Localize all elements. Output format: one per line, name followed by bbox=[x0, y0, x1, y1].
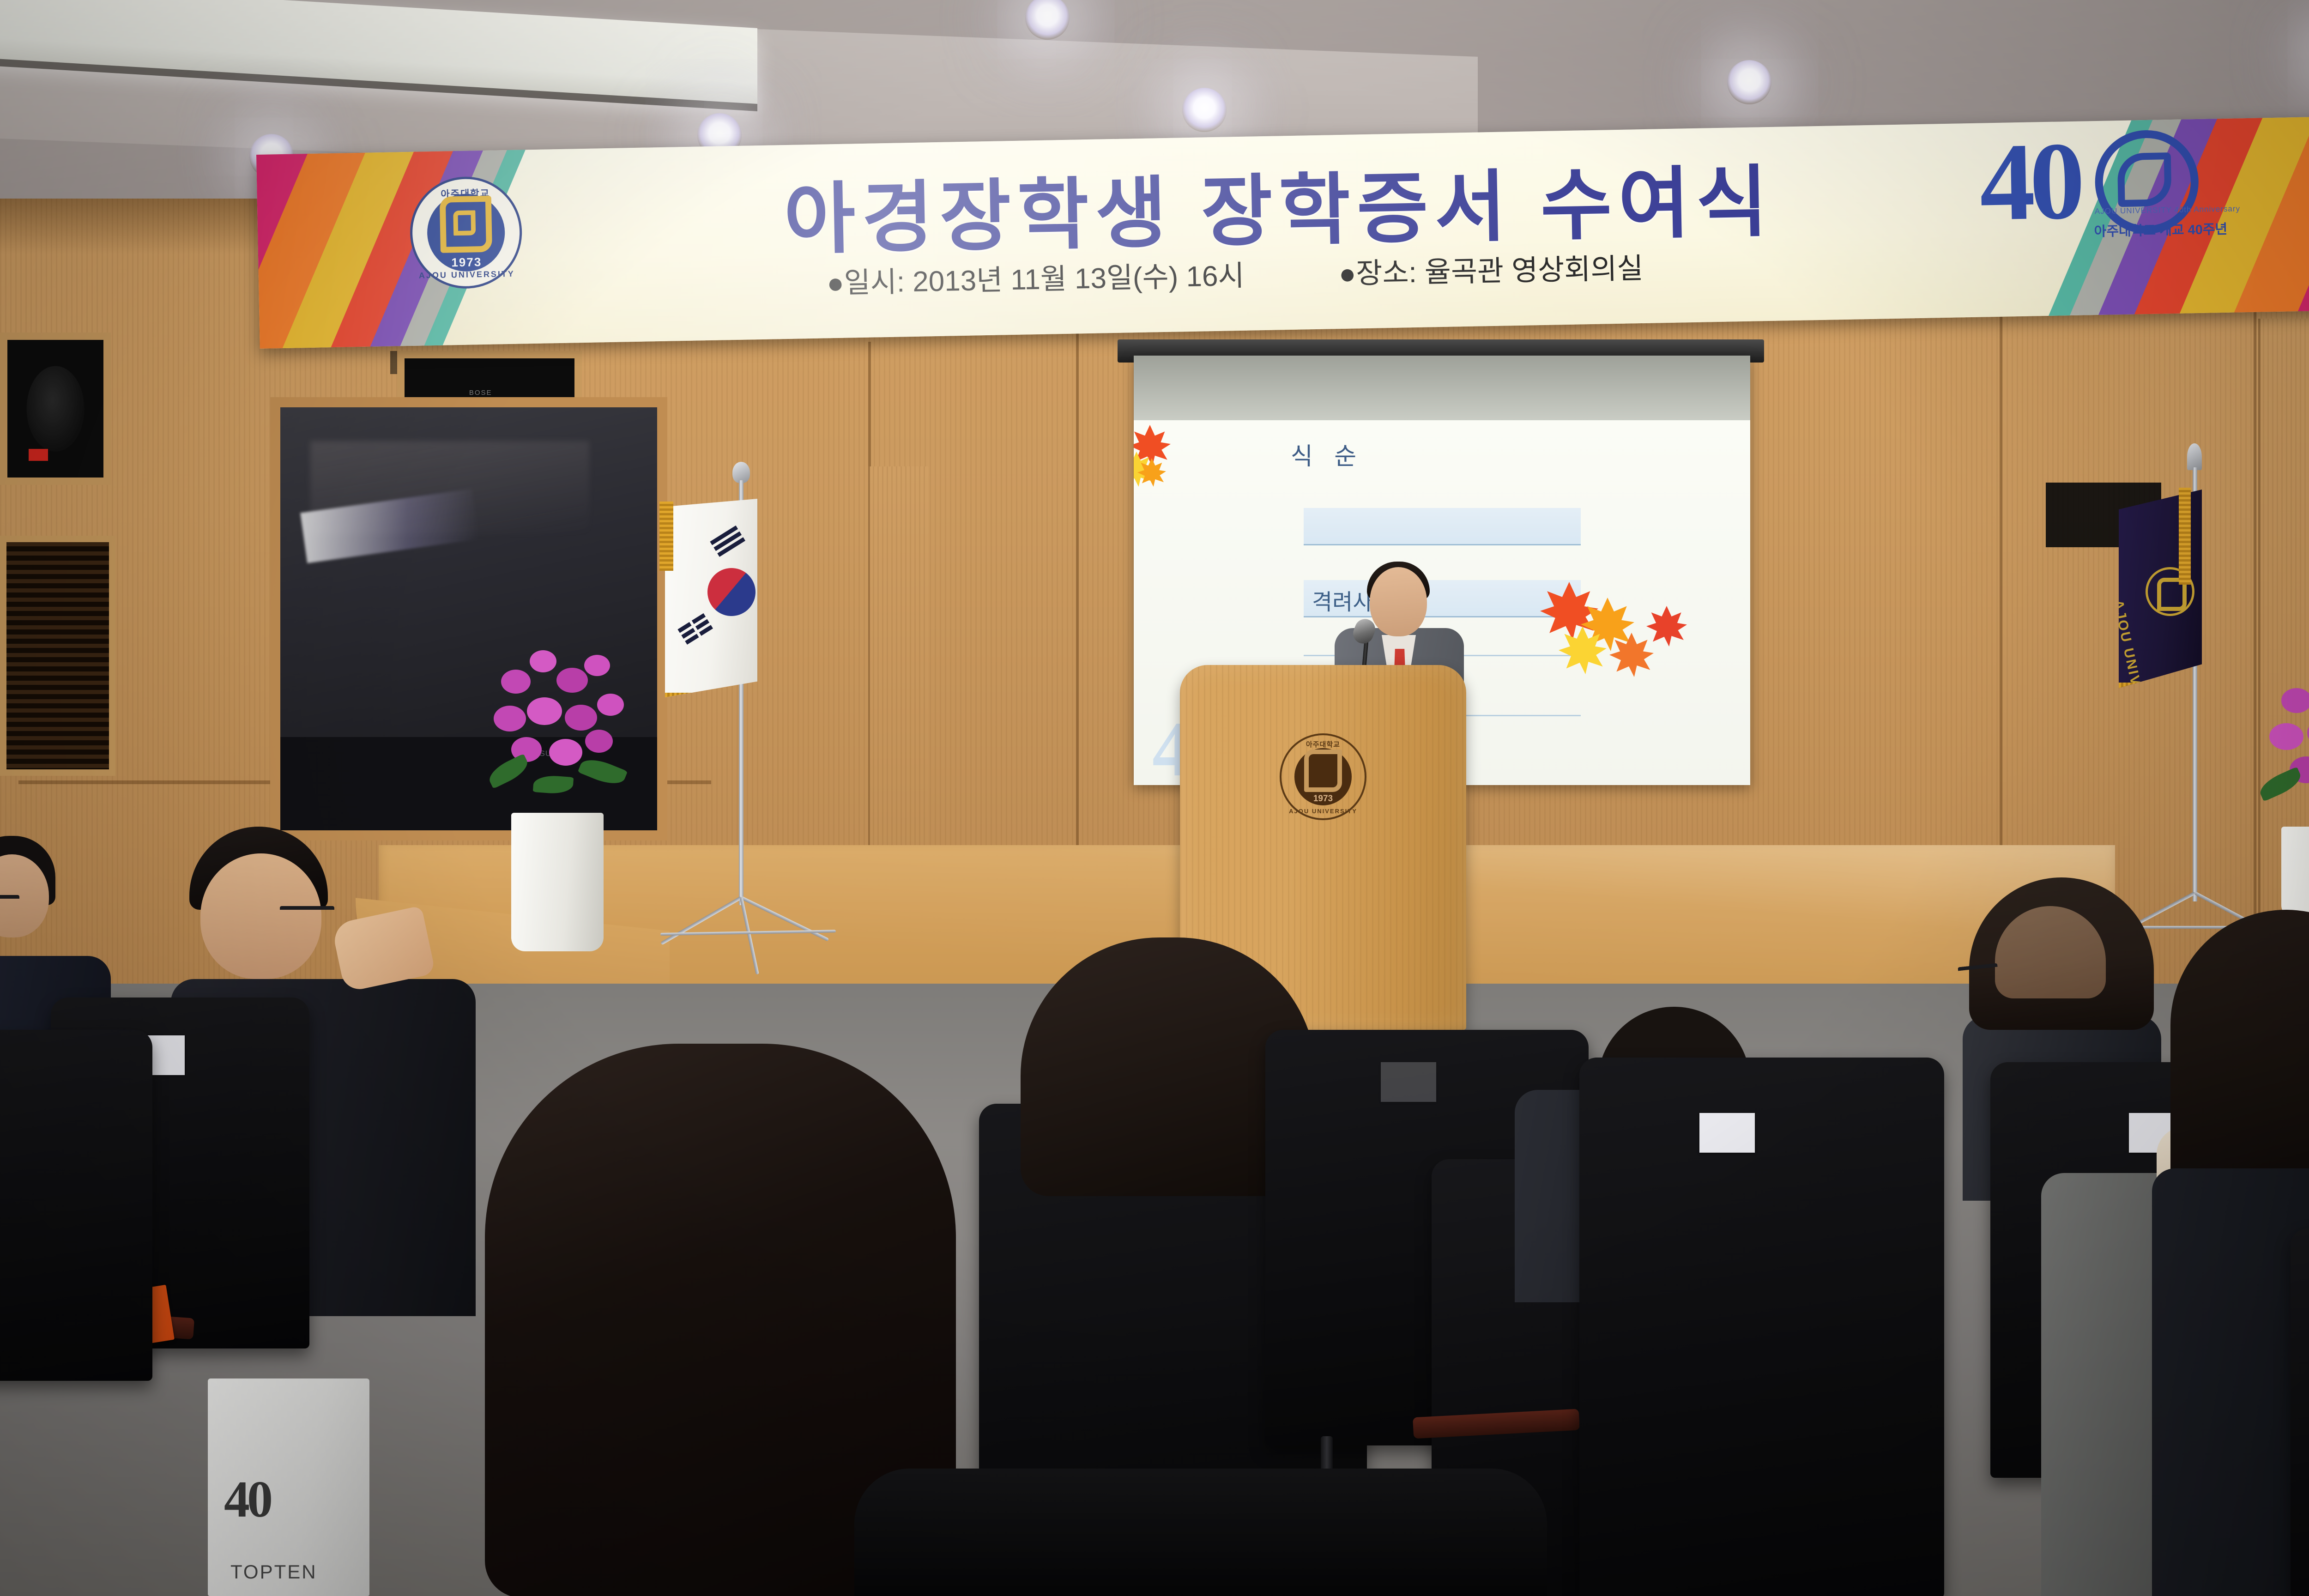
event-banner: 아주대학교 1973 AJOU UNIVERSITY 아경장학생 장학증서 수여… bbox=[256, 117, 2309, 349]
flag-fringe-bottom bbox=[2119, 683, 2202, 699]
bose-brand-label: BOSE bbox=[469, 389, 492, 397]
foliage-leaf bbox=[485, 754, 532, 789]
flower-bloom bbox=[2307, 719, 2309, 747]
audience-hair bbox=[2170, 910, 2309, 1196]
trigram-gon bbox=[677, 613, 714, 647]
flag-stand-leg bbox=[740, 896, 829, 941]
seat-backrest bbox=[0, 1030, 152, 1381]
podium-seal-inner: 1973 bbox=[1294, 748, 1352, 805]
slide-program-row bbox=[1304, 508, 1581, 545]
taegeuk-circle bbox=[699, 559, 764, 625]
wall-speaker-jbl bbox=[0, 332, 111, 485]
ajou-emblem-mark bbox=[440, 195, 492, 253]
foliage-leaf bbox=[2256, 767, 2304, 802]
seat-far-right[interactable] bbox=[2291, 1228, 2309, 1596]
seal-inner-ring: 1973 bbox=[427, 193, 506, 272]
slide-title: 식 순 bbox=[1291, 437, 1364, 472]
foliage-leaf bbox=[533, 774, 574, 795]
eyeglasses-icon bbox=[0, 895, 19, 903]
seat-name-card bbox=[1381, 1062, 1436, 1102]
anniversary-caption-ko: 아주대학교 개교 40주년 bbox=[2094, 218, 2227, 240]
ceiling-downlight bbox=[1727, 60, 1771, 104]
flag-fringe-side bbox=[2179, 488, 2191, 585]
flower-bloom bbox=[2281, 688, 2309, 713]
banner-place: ●장소: 율곡관 영상회의실 bbox=[1338, 253, 1644, 290]
speaker-head bbox=[1370, 567, 1427, 636]
jbl-logo-badge bbox=[29, 449, 48, 461]
trigram-geon bbox=[710, 526, 746, 559]
flag-stand-leg bbox=[660, 896, 742, 945]
podium-seal-year: 1973 bbox=[1313, 794, 1333, 804]
seat-backrest bbox=[1579, 1058, 1944, 1596]
podium-seal-english: AJOU UNIVERSITY bbox=[1281, 808, 1365, 815]
seat-front-left-second[interactable] bbox=[0, 1030, 152, 1381]
audience-foreground-silhouette bbox=[854, 1469, 1547, 1596]
gift-tote-bag: 40 TOPTEN bbox=[208, 1378, 369, 1596]
seat-right-a[interactable] bbox=[1579, 1058, 1944, 1596]
maple-leaf-icon bbox=[1609, 633, 1654, 677]
flower-bloom bbox=[501, 670, 531, 694]
wall-air-vent bbox=[0, 536, 115, 776]
speaker-cone bbox=[27, 366, 85, 452]
flower-bloom bbox=[585, 730, 613, 753]
flower-bloom bbox=[597, 694, 624, 716]
flower-bloom bbox=[556, 668, 588, 693]
eyeglasses-icon bbox=[280, 906, 334, 914]
banner-subtitle-gap bbox=[1252, 284, 1331, 285]
flower-bloom bbox=[2269, 723, 2303, 750]
conference-hall-photo: BOSE MITSUBISHI bbox=[0, 0, 2309, 1596]
flower-bloom bbox=[584, 655, 610, 676]
flower-arrangement-right bbox=[2254, 679, 2309, 919]
foliage-leaf bbox=[578, 754, 628, 789]
seat-backrest bbox=[2291, 1228, 2309, 1596]
ajou-seal-banner: 아주대학교 1973 AJOU UNIVERSITY bbox=[409, 176, 523, 290]
seat-name-card bbox=[1699, 1113, 1755, 1153]
flower-bloom bbox=[549, 739, 582, 766]
flower-bloom bbox=[494, 706, 526, 731]
flower-pot bbox=[511, 813, 604, 951]
tote-brand-text: TOPTEN bbox=[230, 1561, 317, 1583]
audience-torso bbox=[2152, 1168, 2309, 1596]
banner-artwork: 아주대학교 1973 AJOU UNIVERSITY 아경장학생 장학증서 수여… bbox=[256, 117, 2309, 349]
flower-bloom bbox=[565, 705, 597, 731]
ceiling-downlight bbox=[1182, 88, 1227, 132]
audience-member-far-right bbox=[2170, 910, 2309, 1596]
flag-fringe-side bbox=[659, 502, 673, 571]
seal-founding-year: 1973 bbox=[451, 255, 482, 270]
flag-university-text: AJOU UNIVERSITY bbox=[2110, 598, 2156, 745]
flower-bloom bbox=[527, 697, 562, 725]
korean-flag-stand bbox=[647, 462, 840, 947]
seal-english-name: AJOU UNIVERSITY bbox=[413, 269, 520, 281]
audience-torso bbox=[854, 1469, 1547, 1596]
ajou-emblem-mark bbox=[1304, 750, 1342, 792]
audience-head bbox=[200, 853, 321, 979]
flower-bloom bbox=[530, 650, 556, 672]
korean-national-flag bbox=[665, 499, 757, 697]
ajou-seal-podium: 아주대학교 1973 AJOU UNIVERSITY bbox=[1280, 733, 1366, 820]
screen-top-shadow bbox=[1134, 356, 1750, 420]
podium-seal-korean: 아주대학교 bbox=[1281, 739, 1365, 749]
flag-finial bbox=[2187, 443, 2202, 470]
flower-pot bbox=[2281, 827, 2309, 919]
maple-leaf-icon bbox=[1646, 606, 1687, 647]
flower-arrangement-left bbox=[487, 647, 644, 951]
flag-fringe-bottom bbox=[665, 693, 757, 709]
anniversary-logo: 40 AJOU UNIVERSITY 40th Anniversary 아주대학… bbox=[1979, 122, 2222, 284]
banner-date: ●일시: 2013년 11월 13일(수) 16시 bbox=[827, 260, 1245, 300]
tote-anniversary-logo: 40 bbox=[224, 1470, 270, 1529]
